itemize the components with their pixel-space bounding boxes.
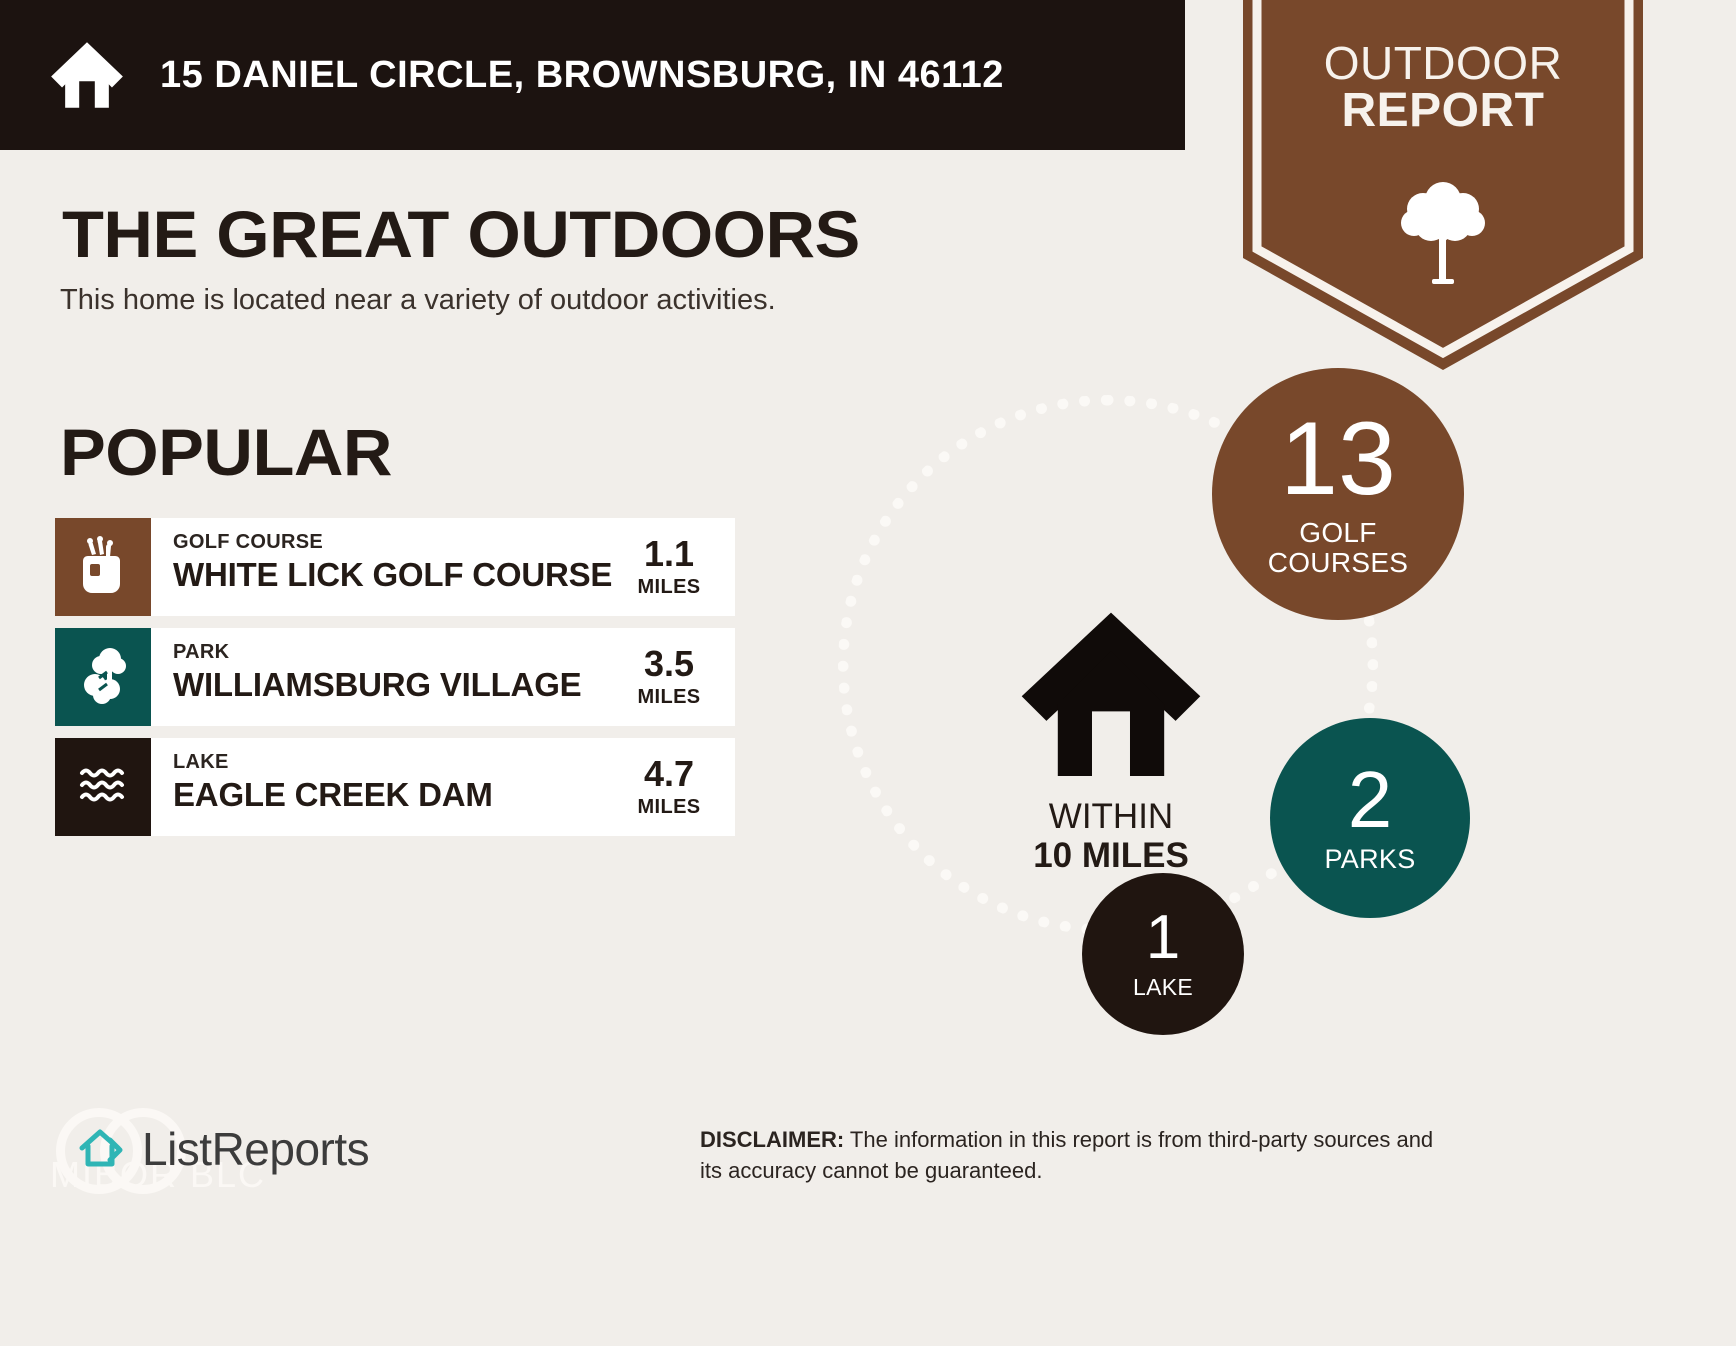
list-item[interactable]: PARK WILLIAMSBURG VILLAGE 3.5 MILES: [55, 628, 735, 726]
poi-distance-unit: MILES: [623, 796, 715, 819]
park-trees-icon: [77, 646, 129, 709]
stat-bubble-parks[interactable]: 2 PARKS: [1270, 718, 1470, 918]
list-item[interactable]: LAKE EAGLE CREEK DAM 4.7 MILES: [55, 738, 735, 836]
poi-icon-swatch: [55, 628, 151, 726]
poi-distance-value: 4.7: [623, 756, 715, 792]
house-loop-icon: [68, 1116, 134, 1182]
disclaimer-label: DISCLAIMER:: [700, 1127, 844, 1152]
stat-count: 13: [1280, 411, 1396, 509]
page-title: THE GREAT OUTDOORS: [62, 196, 860, 272]
poi-name: EAGLE CREEK DAM: [173, 778, 623, 812]
poi-category: LAKE: [173, 752, 623, 773]
diagram-center-line-2: 10 MILES: [1016, 836, 1206, 875]
list-item[interactable]: GOLF COURSE WHITE LICK GOLF COURSE 1.1 M…: [55, 518, 735, 616]
poi-distance: 4.7 MILES: [623, 738, 735, 836]
diagram-center-line-1: WITHIN: [1016, 797, 1206, 836]
poi-icon-swatch: [55, 518, 151, 616]
tree-icon: [1400, 176, 1486, 286]
poi-distance: 1.1 MILES: [623, 518, 735, 616]
poi-text: LAKE EAGLE CREEK DAM: [151, 738, 623, 836]
stat-label: LAKE: [1133, 975, 1193, 999]
outdoor-report-page: 15 DANIEL CIRCLE, BROWNSBURG, IN 46112 O…: [0, 0, 1736, 1346]
poi-distance-value: 3.5: [623, 646, 715, 682]
poi-distance-value: 1.1: [623, 536, 715, 572]
poi-distance-unit: MILES: [623, 576, 715, 599]
property-address: 15 DANIEL CIRCLE, BROWNSBURG, IN 46112: [160, 54, 1004, 97]
stat-label: GOLF COURSES: [1268, 518, 1409, 577]
poi-icon-swatch: [55, 738, 151, 836]
footer-logo-area: MIBOR BLC ListReports: [38, 1116, 458, 1236]
stat-count: 2: [1348, 762, 1393, 837]
stat-count: 1: [1146, 909, 1180, 967]
poi-category: GOLF COURSE: [173, 532, 623, 553]
stat-bubble-golf-courses[interactable]: 13 GOLF COURSES: [1212, 368, 1464, 620]
stat-label: PARKS: [1324, 845, 1415, 873]
poi-text: GOLF COURSE WHITE LICK GOLF COURSE: [151, 518, 623, 616]
house-icon: [1016, 771, 1206, 788]
poi-distance: 3.5 MILES: [623, 628, 735, 726]
popular-places-list: GOLF COURSE WHITE LICK GOLF COURSE 1.1 M…: [55, 518, 735, 848]
listreports-wordmark: ListReports: [142, 1122, 369, 1176]
golf-bag-icon: [77, 536, 129, 599]
poi-category: PARK: [173, 642, 623, 663]
poi-text: PARK WILLIAMSBURG VILLAGE: [151, 628, 623, 726]
listreports-logo[interactable]: ListReports: [68, 1116, 369, 1182]
diagram-center: WITHIN 10 MILES: [1016, 605, 1206, 875]
section-title-popular: POPULAR: [60, 414, 392, 490]
poi-distance-unit: MILES: [623, 686, 715, 709]
outdoor-report-badge: OUTDOOR REPORT: [1243, 0, 1643, 370]
water-waves-icon: [77, 756, 129, 819]
stat-label-line-2: COURSES: [1268, 548, 1409, 577]
page-subtitle: This home is located near a variety of o…: [60, 284, 776, 317]
stat-label-line-1: GOLF: [1268, 518, 1409, 547]
house-icon: [48, 36, 126, 114]
within-10-miles-diagram: WITHIN 10 MILES 13 GOLF COURSES 2 PARKS …: [820, 355, 1520, 1055]
poi-name: WHITE LICK GOLF COURSE: [173, 558, 623, 592]
header-bar: 15 DANIEL CIRCLE, BROWNSBURG, IN 46112: [0, 0, 1185, 150]
poi-name: WILLIAMSBURG VILLAGE: [173, 668, 623, 702]
disclaimer: DISCLAIMER: The information in this repo…: [700, 1124, 1440, 1186]
stat-bubble-lake[interactable]: 1 LAKE: [1082, 873, 1244, 1035]
